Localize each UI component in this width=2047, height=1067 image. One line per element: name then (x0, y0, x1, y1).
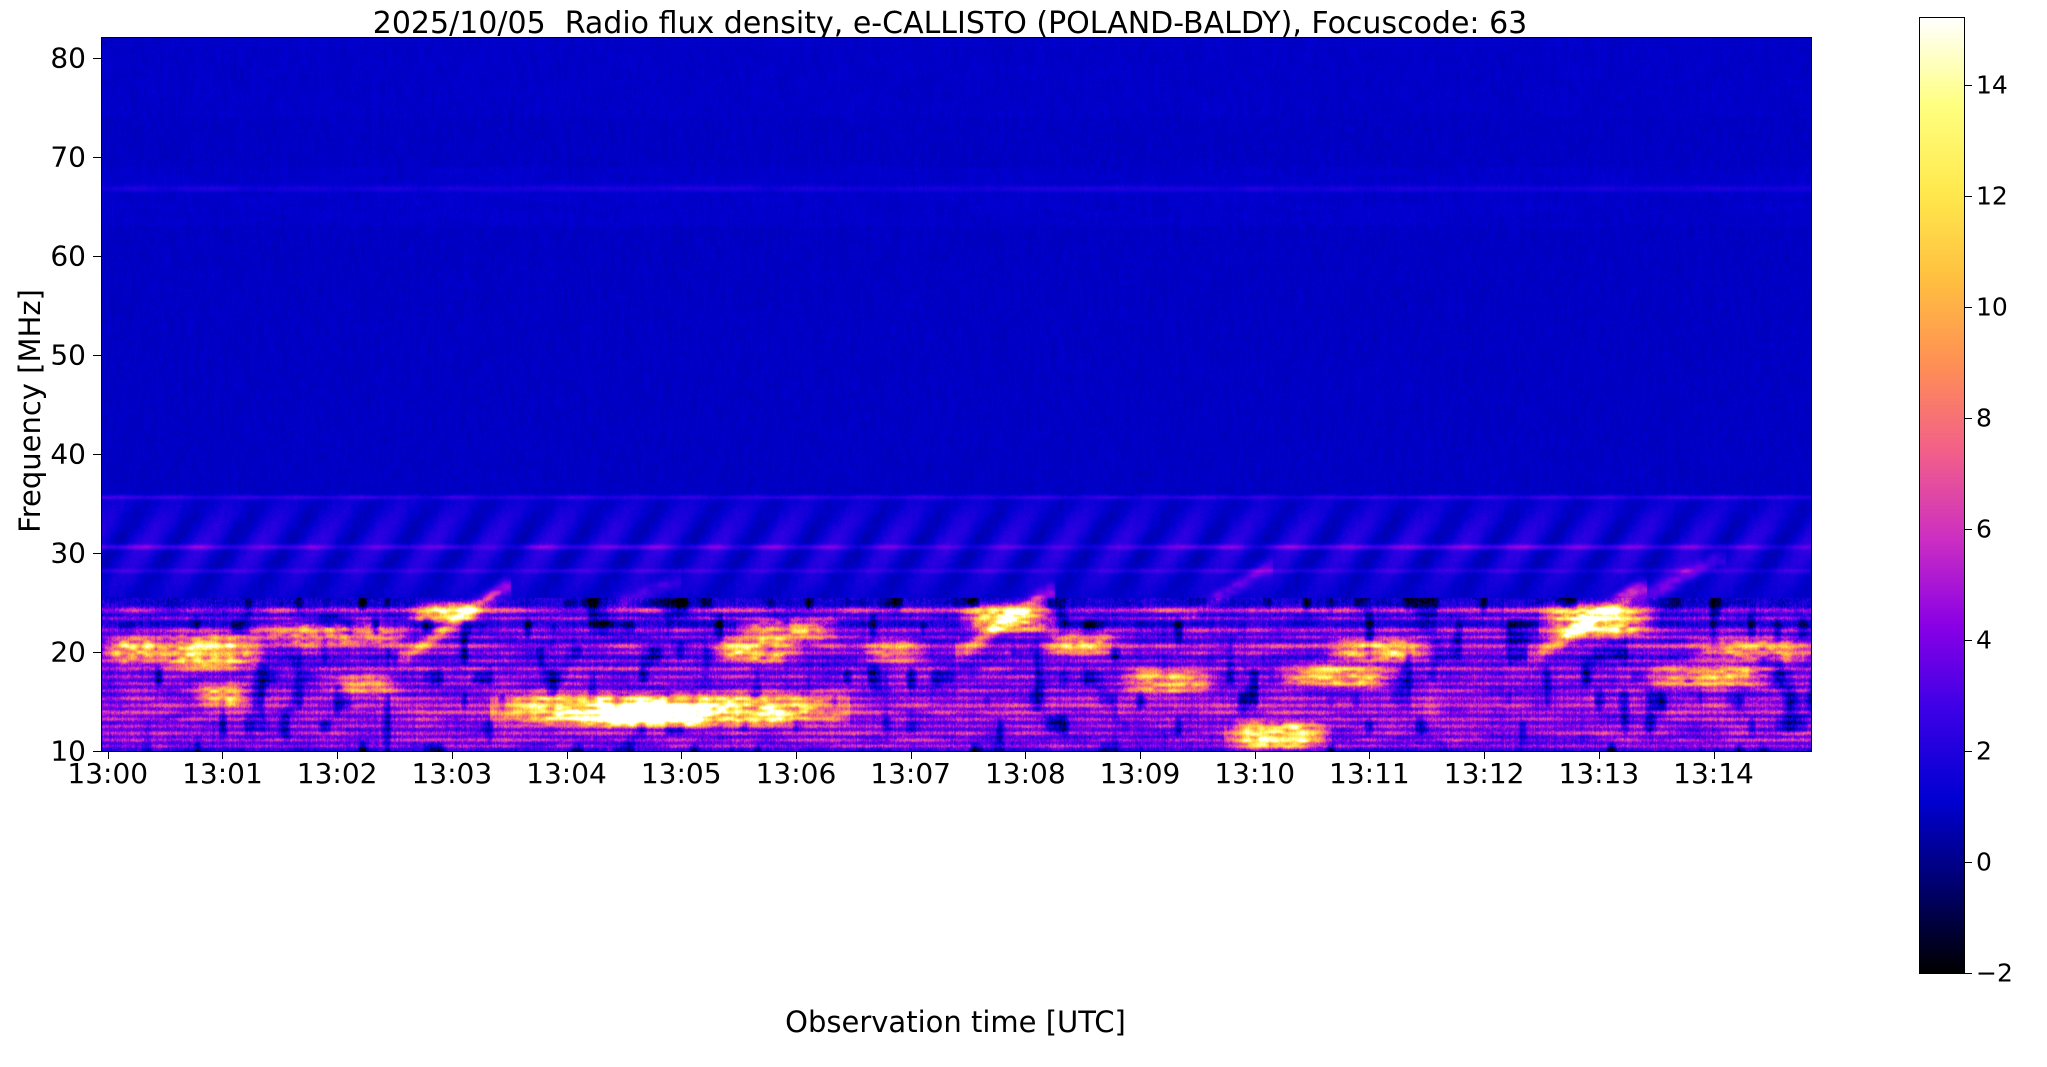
colorbar[interactable] (1919, 17, 1965, 974)
x-tick-mark (108, 751, 109, 759)
colorbar-tick-mark (1964, 196, 1972, 197)
x-tick-label: 13:06 (756, 757, 837, 790)
x-tick-label: 13:01 (182, 757, 263, 790)
colorbar-tick-label: 10 (1976, 292, 2008, 321)
x-tick-label: 13:00 (67, 757, 148, 790)
x-tick-label: 13:11 (1329, 757, 1410, 790)
colorbar-tick-mark (1964, 418, 1972, 419)
colorbar-tick-label: 2 (1976, 736, 1992, 765)
y-tick-mark (93, 751, 101, 752)
y-axis-label: Frequency [MHz] (13, 231, 47, 591)
x-tick-label: 13:12 (1444, 757, 1525, 790)
y-tick-label: 50 (50, 338, 86, 371)
x-tick-mark (452, 751, 453, 759)
y-tick-mark (93, 58, 101, 59)
x-tick-mark (1140, 751, 1141, 759)
x-tick-label: 13:07 (870, 757, 951, 790)
y-tick-label: 60 (50, 239, 86, 272)
x-tick-mark (1369, 751, 1370, 759)
x-tick-mark (796, 751, 797, 759)
spectrogram-canvas (102, 38, 1811, 751)
y-tick-mark (93, 553, 101, 554)
colorbar-tick-mark (1964, 751, 1972, 752)
x-tick-label: 13:10 (1214, 757, 1295, 790)
y-tick-label: 70 (50, 140, 86, 173)
spectrogram-figure: 2025/10/05 Radio flux density, e-CALLIST… (0, 0, 2047, 1067)
x-tick-mark (1255, 751, 1256, 759)
x-tick-mark (911, 751, 912, 759)
colorbar-tick-mark (1964, 307, 1972, 308)
x-axis-label: Observation time [UTC] (101, 1005, 1810, 1039)
colorbar-tick-label: −2 (1976, 959, 2013, 988)
colorbar-tick-label: 6 (1976, 514, 1992, 543)
colorbar-tick-label: 12 (1976, 181, 2008, 210)
x-tick-mark (222, 751, 223, 759)
x-tick-label: 13:13 (1558, 757, 1639, 790)
colorbar-tick-mark (1964, 862, 1972, 863)
x-tick-mark (567, 751, 568, 759)
x-tick-label: 13:02 (297, 757, 378, 790)
x-tick-label: 13:03 (411, 757, 492, 790)
x-tick-mark (1025, 751, 1026, 759)
spectrogram-plot-area[interactable] (101, 37, 1812, 752)
y-tick-label: 80 (50, 41, 86, 74)
colorbar-tick-mark (1964, 973, 1972, 974)
x-tick-label: 13:08 (985, 757, 1066, 790)
y-tick-mark (93, 157, 101, 158)
y-tick-label: 30 (50, 536, 86, 569)
y-tick-mark (93, 454, 101, 455)
y-tick-label: 20 (50, 635, 86, 668)
colorbar-tick-label: 4 (1976, 625, 1992, 654)
colorbar-tick-mark (1964, 640, 1972, 641)
x-tick-label: 13:04 (526, 757, 607, 790)
x-tick-mark (1714, 751, 1715, 759)
y-tick-label: 40 (50, 437, 86, 470)
y-tick-mark (93, 652, 101, 653)
y-tick-mark (93, 355, 101, 356)
x-tick-mark (1484, 751, 1485, 759)
colorbar-tick-label: 8 (1976, 403, 1992, 432)
colorbar-tick-mark (1964, 529, 1972, 530)
colorbar-tick-label: 14 (1976, 70, 2008, 99)
page-title: 2025/10/05 Radio flux density, e-CALLIST… (100, 6, 1800, 41)
colorbar-tick-label: 0 (1976, 847, 1992, 876)
x-tick-mark (1599, 751, 1600, 759)
y-tick-mark (93, 256, 101, 257)
x-tick-label: 13:14 (1673, 757, 1754, 790)
x-tick-mark (337, 751, 338, 759)
colorbar-gradient (1920, 18, 1964, 973)
colorbar-tick-mark (1964, 85, 1972, 86)
x-tick-mark (681, 751, 682, 759)
x-tick-label: 13:09 (1100, 757, 1181, 790)
x-tick-label: 13:05 (641, 757, 722, 790)
